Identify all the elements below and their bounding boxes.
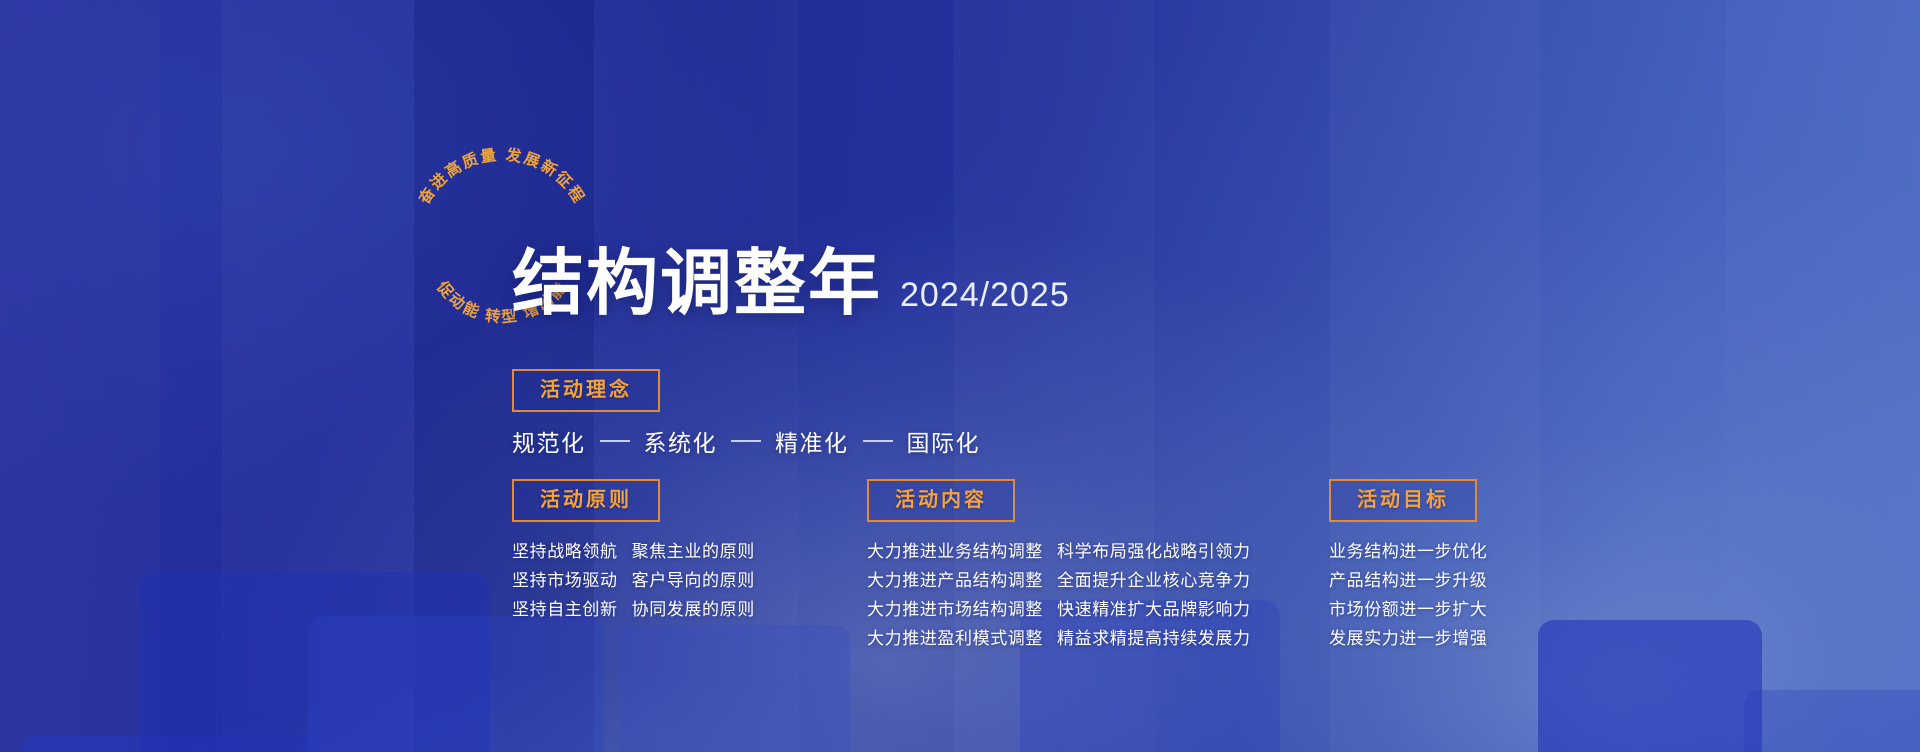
- row-right: 聚焦主业的原则: [632, 541, 755, 563]
- badge-activity-concept: 活动理念: [512, 369, 660, 412]
- list-item: 大力推进业务结构调整 科学布局强化战略引领力: [867, 541, 1251, 563]
- row-left: 发展实力进一步增强: [1329, 628, 1487, 650]
- badge-activity-content: 活动内容: [867, 479, 1015, 522]
- list-item: 市场份额进一步扩大: [1329, 599, 1487, 621]
- row-right: 快速精准扩大品牌影响力: [1057, 599, 1251, 621]
- row-left: 业务结构进一步优化: [1329, 541, 1487, 563]
- row-left: 产品结构进一步升级: [1329, 570, 1487, 592]
- concept-keyword: 国际化: [907, 424, 981, 458]
- list-item: 大力推进盈利模式调整 精益求精提高持续发展力: [867, 628, 1251, 650]
- badge-wrap: 活动目标: [1329, 479, 1487, 522]
- row-right: 客户导向的原则: [632, 570, 755, 592]
- badge-label: 活动内容: [895, 490, 987, 510]
- row-right: 科学布局强化战略引领力: [1057, 541, 1251, 563]
- list-item: 坚持战略领航 聚焦主业的原则: [512, 541, 755, 563]
- content-columns: 活动原则 坚持战略领航 聚焦主业的原则 坚持市场驱动 客户导向的原则 坚持自主创…: [0, 479, 1920, 679]
- badge-label: 活动原则: [540, 490, 632, 510]
- row-left: 坚持战略领航: [512, 541, 618, 563]
- column-activity-goals: 活动目标 业务结构进一步优化 产品结构进一步升级 市场份额进一步扩大 发展实力进…: [1329, 479, 1487, 657]
- list-item: 大力推进产品结构调整 全面提升企业核心竞争力: [867, 570, 1251, 592]
- list-item: 坚持市场驱动 客户导向的原则: [512, 570, 755, 592]
- column-activity-content: 活动内容 大力推进业务结构调整 科学布局强化战略引领力 大力推进产品结构调整 全…: [867, 479, 1251, 657]
- page-title: 结构调整年: [512, 248, 882, 320]
- row-left: 坚持自主创新: [512, 599, 618, 621]
- list-item: 业务结构进一步优化: [1329, 541, 1487, 563]
- emblem-top-text: 奋进高质量 发展新征程: [414, 145, 589, 209]
- keyword-separator-icon: [863, 440, 893, 442]
- row-right: 全面提升企业核心竞争力: [1057, 570, 1251, 592]
- row-left: 大力推进市场结构调整: [867, 599, 1043, 621]
- badge-activity-principles: 活动原则: [512, 479, 660, 522]
- badge-activity-goals: 活动目标: [1329, 479, 1477, 522]
- column-activity-principles: 活动原则 坚持战略领航 聚焦主业的原则 坚持市场驱动 客户导向的原则 坚持自主创…: [512, 479, 755, 628]
- keyword-separator-icon: [731, 440, 761, 442]
- concept-keyword: 系统化: [644, 424, 718, 458]
- list-item: 坚持自主创新 协同发展的原则: [512, 599, 755, 621]
- campaign-banner: 奋进高质量 发展新征程 促动能 转型 增动能 结构调整年 2024/2025 活…: [0, 0, 1920, 752]
- list-item: 发展实力进一步增强: [1329, 628, 1487, 650]
- row-left: 大力推进产品结构调整: [867, 570, 1043, 592]
- concept-keyword: 规范化: [512, 424, 586, 458]
- badge-label: 活动目标: [1357, 490, 1449, 510]
- campaign-year: 2024/2025: [900, 278, 1070, 320]
- row-right: 协同发展的原则: [632, 599, 755, 621]
- badge-wrap: 活动原则: [512, 479, 755, 522]
- badge-wrap: 活动内容: [867, 479, 1251, 522]
- badge-label: 活动理念: [540, 380, 632, 400]
- row-left: 坚持市场驱动: [512, 570, 618, 592]
- row-right: 精益求精提高持续发展力: [1057, 628, 1251, 650]
- concept-badge-wrap: 活动理念: [512, 369, 660, 412]
- concept-keywords: 规范化 系统化 精准化 国际化: [512, 424, 980, 458]
- row-left: 市场份额进一步扩大: [1329, 599, 1487, 621]
- row-left: 大力推进业务结构调整: [867, 541, 1043, 563]
- headline-row: 结构调整年 2024/2025: [512, 248, 1070, 320]
- list-item: 产品结构进一步升级: [1329, 570, 1487, 592]
- row-left: 大力推进盈利模式调整: [867, 628, 1043, 650]
- keyword-separator-icon: [600, 440, 630, 442]
- list-item: 大力推进市场结构调整 快速精准扩大品牌影响力: [867, 599, 1251, 621]
- emblem-top-tspan: 奋进高质量 发展新征程: [414, 145, 589, 209]
- concept-keyword: 精准化: [775, 424, 849, 458]
